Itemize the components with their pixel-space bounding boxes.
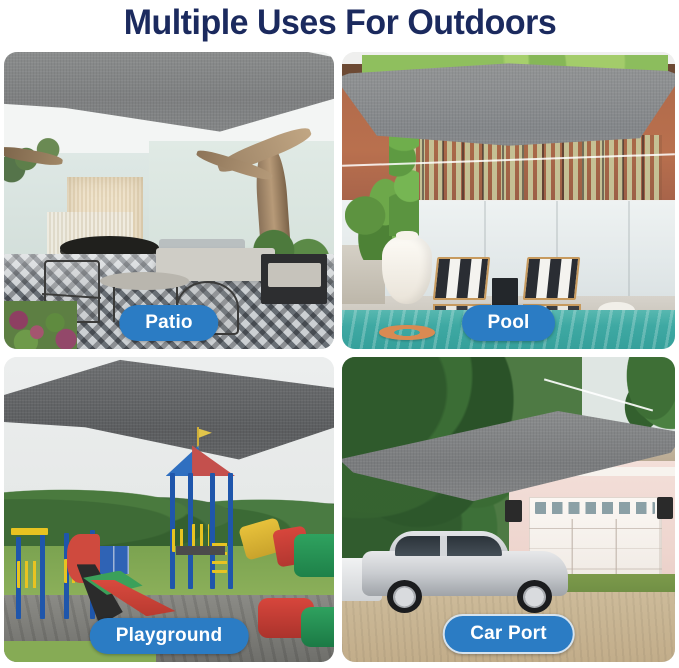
grid-cell-carport: Car Port <box>338 355 679 668</box>
playground-blue-play-panel <box>100 546 130 573</box>
deck-chair-back <box>433 257 491 300</box>
panel-label-patio[interactable]: Patio <box>119 305 218 341</box>
photo-panel-patio[interactable]: Patio <box>4 52 334 349</box>
playground-post <box>228 473 233 589</box>
carport-wall-lantern-left <box>505 500 522 521</box>
patio-armchair <box>261 254 327 304</box>
grid-cell-playground: Playground <box>0 355 338 668</box>
car-rear-wheel <box>387 580 422 613</box>
pool-railing <box>402 135 662 200</box>
photo-panel-playground[interactable]: Playground <box>4 357 334 662</box>
car-front-wheel <box>517 580 552 613</box>
grid-cell-patio: Patio <box>0 50 338 355</box>
playground-tube-slide-green-upper <box>294 534 334 577</box>
uses-grid: Patio <box>0 50 679 668</box>
playground-deck <box>176 546 226 555</box>
car-b-pillar <box>440 536 446 556</box>
photo-panel-pool[interactable]: Pool <box>342 52 675 349</box>
photo-panel-carport[interactable]: Car Port <box>342 357 675 662</box>
patio-table-leg-left <box>113 287 115 323</box>
panel-label-pool[interactable]: Pool <box>462 305 556 341</box>
carport-silver-sedan <box>362 531 568 610</box>
panel-label-playground[interactable]: Playground <box>90 618 249 654</box>
car-windows <box>395 536 502 556</box>
page-header: Multiple Uses For Outdoors <box>0 0 679 46</box>
carport-wall-lantern-right <box>657 497 674 518</box>
patio-flower-bed <box>4 301 77 349</box>
deck-chair-back <box>523 257 581 300</box>
playground-top-bar <box>11 528 49 535</box>
playground-rail <box>17 561 41 588</box>
pool-ring-float <box>379 325 436 340</box>
playground-tower <box>169 473 232 589</box>
carport-garage-windows <box>535 502 655 514</box>
page-title: Multiple Uses For Outdoors <box>123 3 556 43</box>
grid-cell-pool: Pool <box>338 50 679 355</box>
panel-label-carport[interactable]: Car Port <box>442 614 575 654</box>
playground-tube-slide-green-lower <box>301 607 334 647</box>
